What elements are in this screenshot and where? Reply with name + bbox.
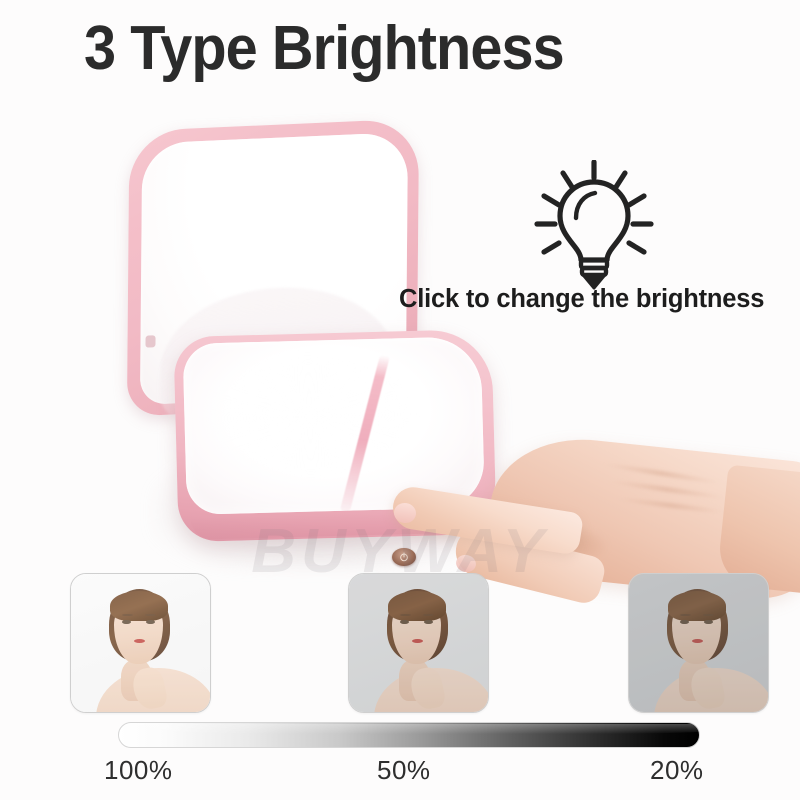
sample-image-bright bbox=[71, 574, 210, 712]
page-title: 3 Type Brightness bbox=[84, 16, 564, 82]
brightness-overlay-50 bbox=[349, 574, 488, 712]
mirror-lid-clip bbox=[145, 335, 155, 347]
brightness-overlay-100 bbox=[71, 574, 210, 712]
brightness-samples bbox=[0, 573, 800, 713]
sample-image-dim bbox=[629, 574, 768, 712]
brightness-sample-100[interactable] bbox=[70, 573, 211, 713]
lightbulb-icon bbox=[524, 160, 664, 290]
brightness-overlay-20 bbox=[629, 574, 768, 712]
product-photo bbox=[0, 95, 800, 575]
brightness-label-100: 100% bbox=[104, 754, 173, 786]
brightness-gradient-bar[interactable] bbox=[118, 722, 700, 748]
brightness-label-20: 20% bbox=[650, 754, 704, 786]
brightness-sample-50[interactable] bbox=[348, 573, 489, 713]
product-infographic: 3 Type Brightness bbox=[0, 0, 800, 800]
brightness-caption: Click to change the brightness bbox=[399, 284, 764, 314]
sample-image-medium bbox=[349, 574, 488, 712]
bar-gloss bbox=[119, 724, 699, 734]
brightness-label-50: 50% bbox=[377, 754, 431, 786]
brightness-scale-labels: 100% 50% 20% bbox=[0, 754, 800, 790]
brightness-sample-20[interactable] bbox=[628, 573, 769, 713]
